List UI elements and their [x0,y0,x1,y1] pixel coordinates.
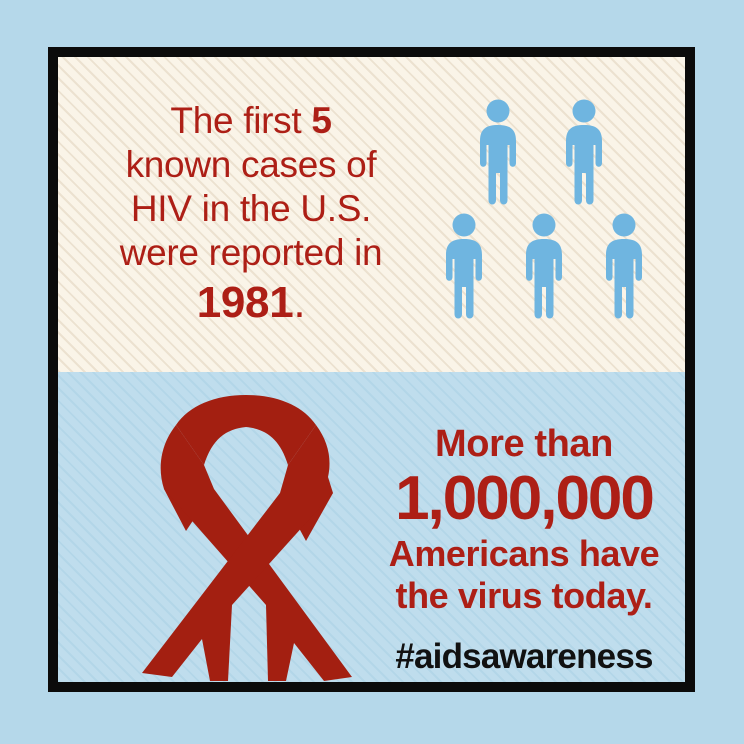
bottom-blue-panel: More than 1,000,000 Americans have the v… [58,372,685,682]
people-icon-group [440,99,680,329]
bottom-text-line-virus: the virus today. [354,575,685,617]
top-text-line-1: The first 5 [74,99,428,143]
poster-frame-border: The first 5 known cases of HIV in the U.… [48,47,695,692]
infographic-poster: The first 5 known cases of HIV in the U.… [0,0,744,744]
top-text-year-period: . [293,278,305,327]
bottom-text-more-than: More than [354,422,685,466]
top-text-number-five: 5 [311,100,331,141]
bottom-statement-text: More than 1,000,000 Americans have the v… [354,422,685,617]
bottom-text-big-number: 1,000,000 [354,465,685,533]
aids-awareness-ribbon-icon [128,381,364,681]
top-cream-panel: The first 5 known cases of HIV in the U.… [58,57,685,372]
top-text-year: 1981. [74,277,428,329]
bottom-text-line-americans: Americans have [354,533,685,575]
person-icon [518,213,570,321]
top-statement-text: The first 5 known cases of HIV in the U.… [74,99,428,329]
top-text-line-4: were reported in [74,231,428,275]
hashtag-label: #aidsawareness [354,637,685,677]
person-icon [598,213,650,321]
poster-frame-inner: The first 5 known cases of HIV in the U.… [58,57,685,682]
top-text-line-2: known cases of [74,143,428,187]
top-text-line-3: HIV in the U.S. [74,187,428,231]
person-icon [438,213,490,321]
top-text-line-1-prefix: The first [170,100,311,141]
person-icon [472,99,524,207]
top-text-year-value: 1981 [197,278,294,327]
person-icon [558,99,610,207]
